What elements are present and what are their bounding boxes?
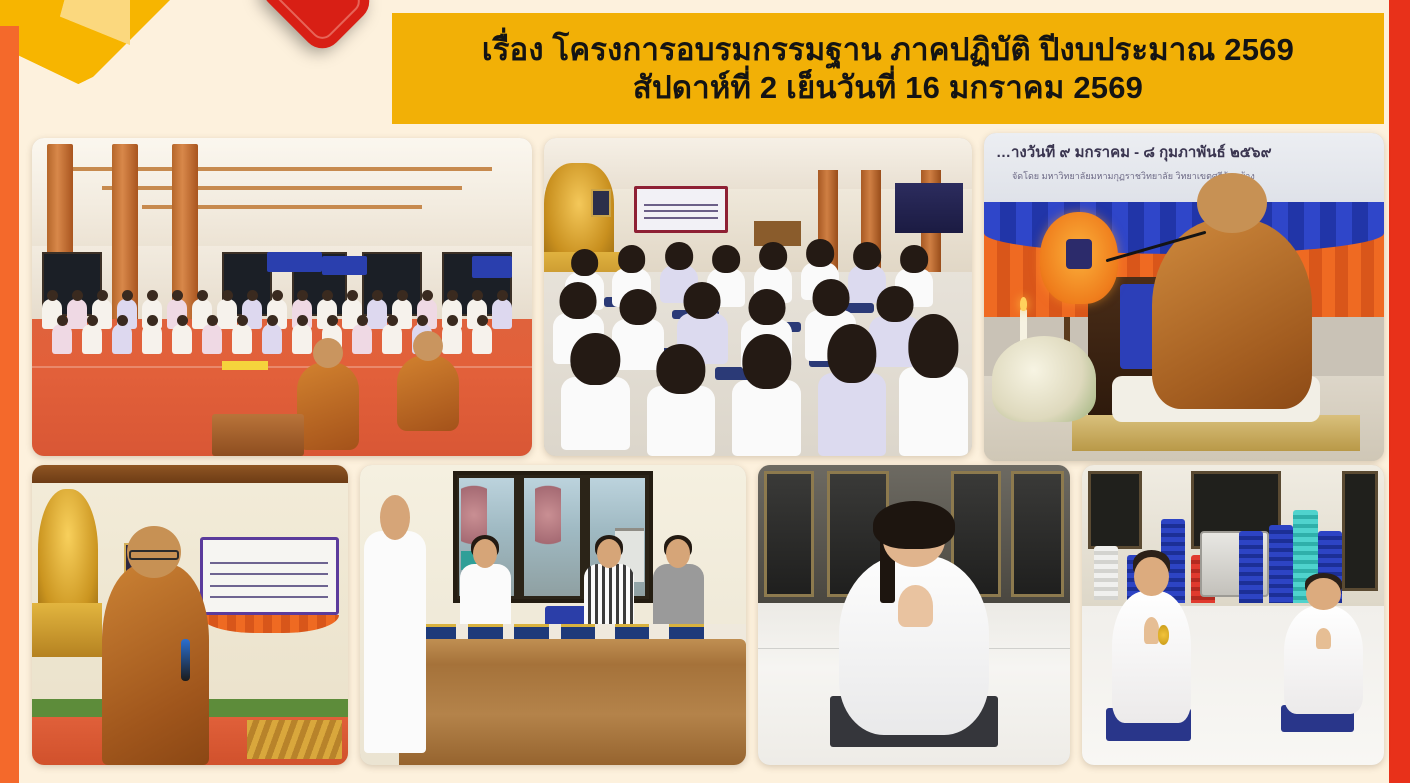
photo-audience-from-behind (544, 138, 972, 456)
photo-meditation-hall-wide (32, 138, 532, 456)
photo-committee-table (360, 465, 746, 765)
title-line-2: สัปดาห์ที่ 2 เย็นวันที่ 16 มกราคม 2569 (633, 70, 1143, 106)
photo-monk-on-dais: …างวันที ๙ มกราคม - ๘ กุมภาพันธ์ ๒๕๖๙ จั… (984, 133, 1384, 461)
photo-scene (544, 138, 972, 456)
photo-woman-kneeling (758, 465, 1070, 765)
photo-scene (32, 465, 348, 765)
photo-grid: …างวันที ๙ มกราคม - ๘ กุมภาพันธ์ ๒๕๖๙ จั… (28, 133, 1388, 771)
red-right-bar (1389, 0, 1410, 783)
photo-scene (758, 465, 1070, 765)
photo-two-men-kneeling (1082, 465, 1384, 765)
title-line-1: เรื่อง โครงการอบรมกรรมฐาน ภาคปฏิบัติ ปีง… (482, 32, 1294, 68)
photo-scene: …างวันที ๙ มกราคม - ๘ กุมภาพันธ์ ๒๕๖๙ จั… (984, 133, 1384, 461)
red-diamond-badge-icon (254, 0, 377, 57)
dais-banner-line-1: …างวันที ๙ มกราคม - ๘ กุมภาพันธ์ ๒๕๖๙ (996, 140, 1372, 164)
dais-banner-line-2: จัดโดย มหาวิทยาลัยมหามกุฏราชวิทยาลัย วิท… (1012, 169, 1372, 183)
photo-scene (32, 138, 532, 456)
photo-monk-with-microphone (32, 465, 348, 765)
orange-left-bar (0, 26, 19, 783)
photo-scene (360, 465, 746, 765)
title-banner: เรื่อง โครงการอบรมกรรมฐาน ภาคปฏิบัติ ปีง… (392, 13, 1384, 124)
poster-root: เรื่อง โครงการอบรมกรรมฐาน ภาคปฏิบัติ ปีง… (0, 0, 1410, 783)
photo-scene (1082, 465, 1384, 765)
